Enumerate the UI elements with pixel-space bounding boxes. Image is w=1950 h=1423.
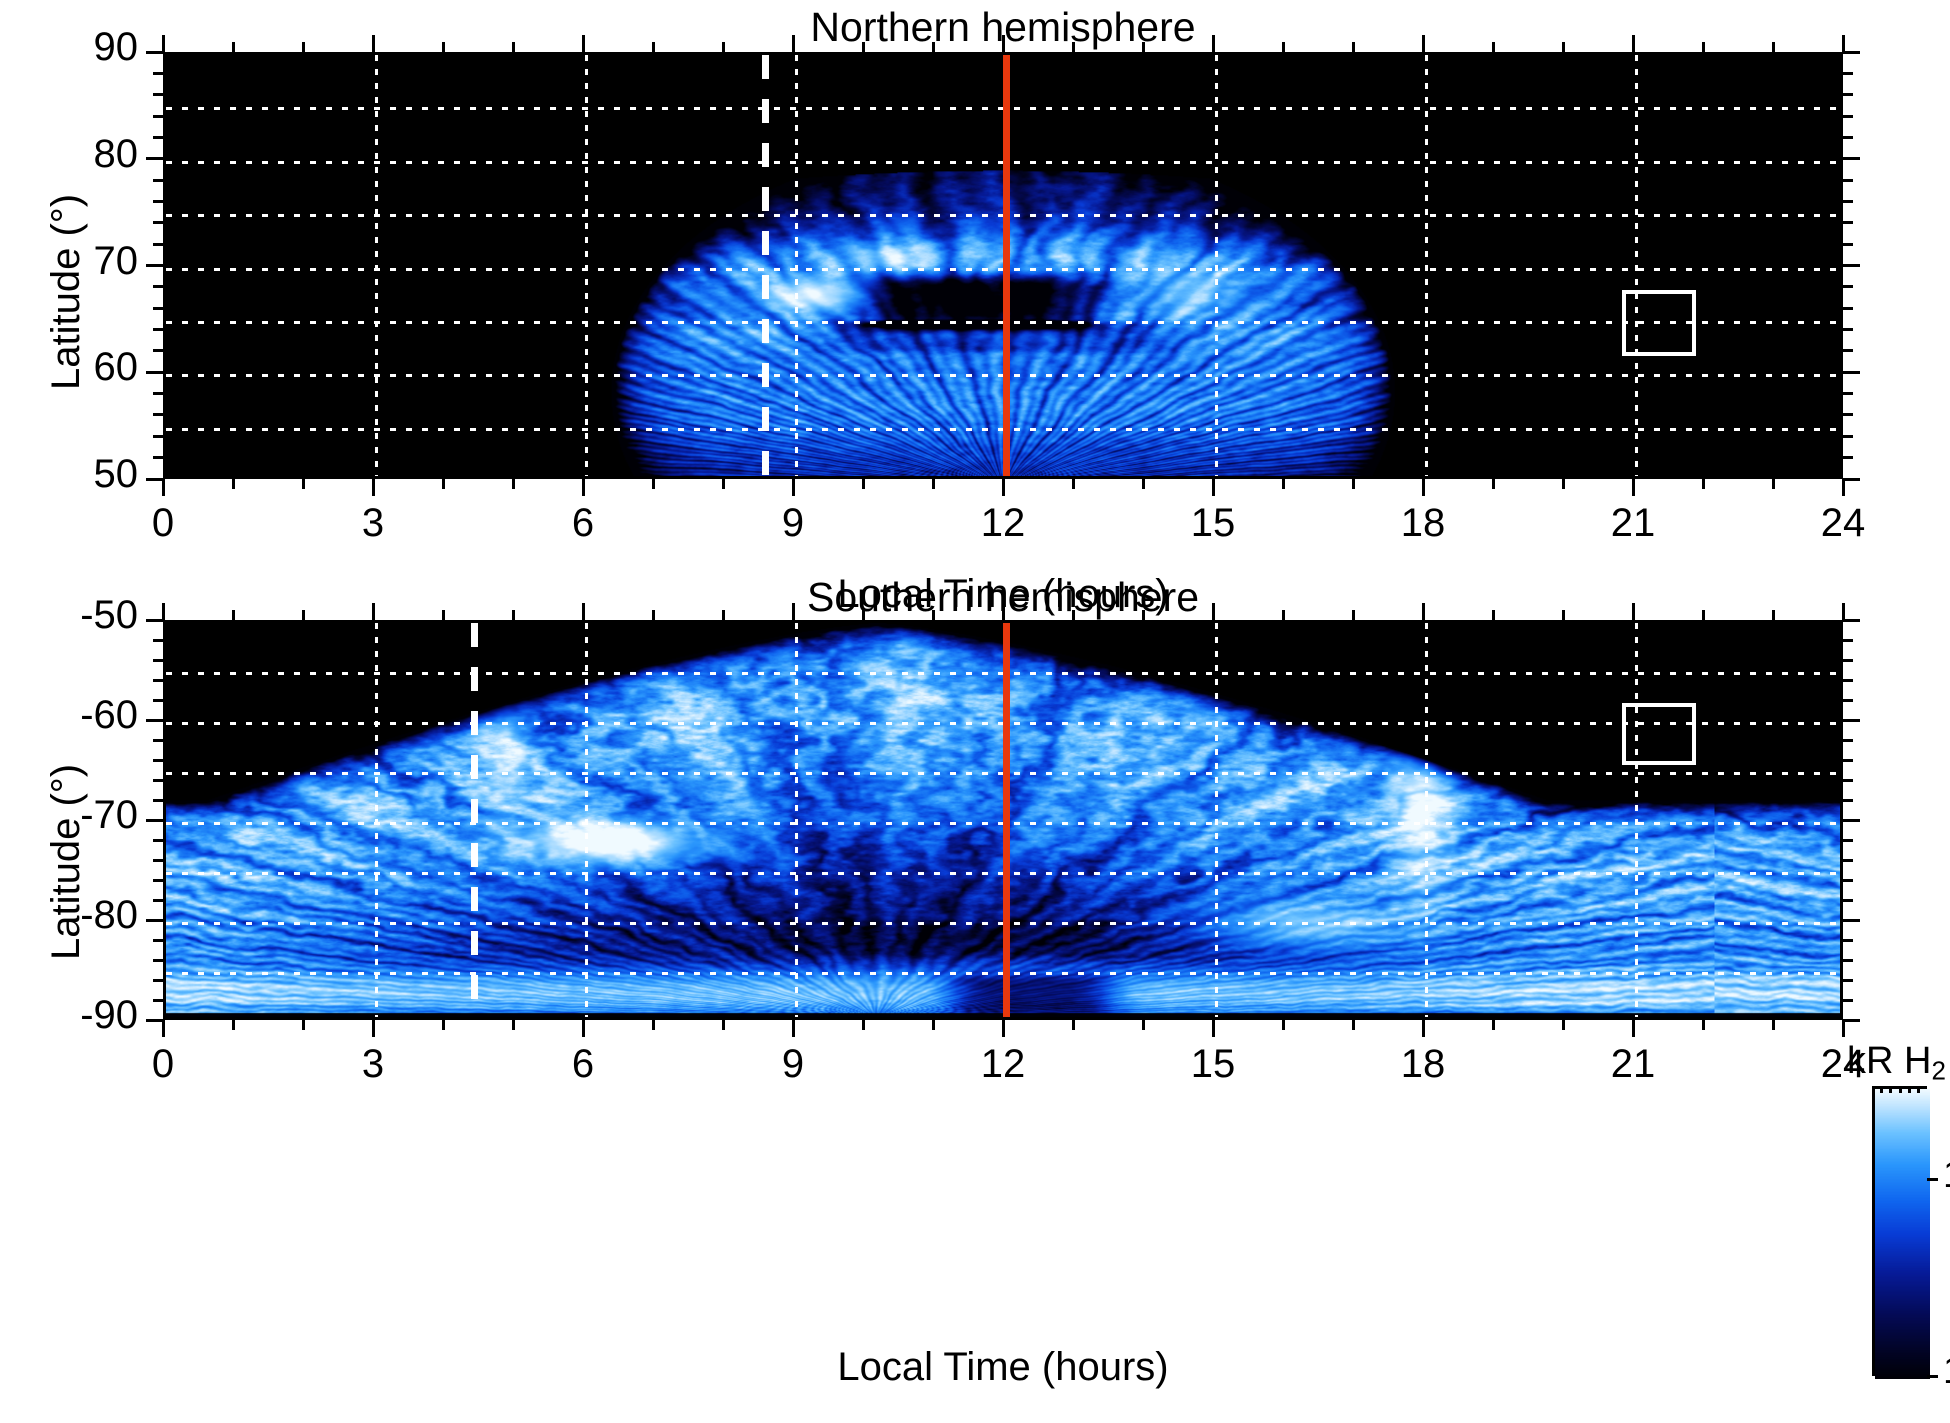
x-tick bbox=[232, 1020, 235, 1030]
y-tick bbox=[153, 659, 163, 662]
y-tick-right bbox=[1843, 478, 1860, 481]
y-tick bbox=[146, 719, 163, 722]
colorbar-title-text: kR H bbox=[1847, 1040, 1931, 1082]
x-tick-label: 3 bbox=[313, 501, 433, 546]
y-tick bbox=[153, 959, 163, 962]
x-tick bbox=[302, 1020, 305, 1030]
x-tick-top bbox=[652, 610, 655, 620]
x-tick bbox=[722, 479, 725, 489]
y-tick-right bbox=[1843, 264, 1860, 267]
x-tick-label: 0 bbox=[103, 501, 223, 546]
x-tick bbox=[1002, 479, 1005, 496]
y-tick bbox=[153, 639, 163, 642]
x-tick bbox=[162, 479, 165, 496]
y-tick bbox=[153, 136, 163, 139]
x-tick-label: 18 bbox=[1363, 501, 1483, 546]
y-tick-right bbox=[1843, 371, 1860, 374]
y-tick bbox=[153, 699, 163, 702]
y-tick-right bbox=[1843, 719, 1860, 722]
x-tick bbox=[1772, 1020, 1775, 1030]
x-tick-top bbox=[1492, 42, 1495, 52]
x-tick-top bbox=[372, 35, 375, 52]
x-tick-top bbox=[862, 610, 865, 620]
northern-hemisphere-plot bbox=[163, 52, 1843, 479]
x-tick-label: 21 bbox=[1573, 1042, 1693, 1087]
x-tick bbox=[1282, 479, 1285, 489]
y-tick-right bbox=[1843, 456, 1853, 459]
x-tick bbox=[162, 1020, 165, 1037]
y-tick-right bbox=[1843, 136, 1853, 139]
x-tick-label: 6 bbox=[523, 1042, 643, 1087]
colorbar-title-subscript: 2 bbox=[1931, 1056, 1945, 1086]
x-tick bbox=[1352, 1020, 1355, 1030]
x-tick-label: 6 bbox=[523, 501, 643, 546]
x-tick bbox=[1002, 1020, 1005, 1037]
y-tick bbox=[153, 739, 163, 742]
x-tick bbox=[652, 479, 655, 489]
x-tick bbox=[1422, 1020, 1425, 1037]
x-tick-top bbox=[162, 603, 165, 620]
y-tick-label: 50 bbox=[0, 452, 138, 497]
x-tick-top bbox=[232, 42, 235, 52]
x-tick bbox=[1702, 1020, 1705, 1030]
y-tick-right bbox=[1843, 243, 1853, 246]
x-tick-top bbox=[302, 42, 305, 52]
x-tick bbox=[1842, 479, 1845, 496]
y-tick-label: -60 bbox=[0, 693, 138, 738]
y-tick-right bbox=[1843, 679, 1853, 682]
y-tick bbox=[153, 456, 163, 459]
y-tick-right bbox=[1843, 93, 1853, 96]
y-tick-right bbox=[1843, 413, 1853, 416]
x-tick bbox=[232, 479, 235, 489]
y-tick bbox=[146, 157, 163, 160]
y-tick-right bbox=[1843, 157, 1860, 160]
y-tick-right bbox=[1843, 779, 1853, 782]
x-tick-top bbox=[1352, 42, 1355, 52]
x-tick-top bbox=[582, 35, 585, 52]
x-tick-top bbox=[1562, 42, 1565, 52]
y-tick-right bbox=[1843, 285, 1853, 288]
x-tick bbox=[442, 479, 445, 489]
x-tick-top bbox=[1842, 603, 1845, 620]
y-tick-right bbox=[1843, 115, 1853, 118]
x-tick-top bbox=[1632, 35, 1635, 52]
x-tick-label: 15 bbox=[1153, 1042, 1273, 1087]
y-tick-right bbox=[1843, 221, 1853, 224]
colorbar bbox=[1872, 1086, 1927, 1376]
y-tick bbox=[153, 979, 163, 982]
y-tick-label: 80 bbox=[0, 132, 138, 177]
x-tick bbox=[372, 479, 375, 496]
x-tick-top bbox=[1002, 35, 1005, 52]
y-tick bbox=[153, 392, 163, 395]
y-tick-label: 90 bbox=[0, 25, 138, 70]
x-tick-top bbox=[1212, 35, 1215, 52]
y-tick bbox=[153, 679, 163, 682]
x-tick-label: 15 bbox=[1153, 501, 1273, 546]
y-tick-right bbox=[1843, 392, 1853, 395]
y-tick-right bbox=[1843, 759, 1853, 762]
y-tick-right bbox=[1843, 349, 1853, 352]
x-tick-top bbox=[1772, 42, 1775, 52]
x-tick bbox=[1422, 479, 1425, 496]
x-tick-label: 18 bbox=[1363, 1042, 1483, 1087]
x-tick-top bbox=[162, 35, 165, 52]
x-tick-label: 0 bbox=[103, 1042, 223, 1087]
x-tick bbox=[932, 479, 935, 489]
y-tick-right bbox=[1843, 879, 1853, 882]
y-tick-right bbox=[1843, 51, 1860, 54]
y-tick-right bbox=[1843, 72, 1853, 75]
y-tick bbox=[146, 619, 163, 622]
x-tick bbox=[1072, 479, 1075, 489]
y-tick-right bbox=[1843, 619, 1860, 622]
y-tick-right bbox=[1843, 307, 1853, 310]
x-tick-label: 9 bbox=[733, 501, 853, 546]
x-tick bbox=[302, 479, 305, 489]
y-tick bbox=[153, 879, 163, 882]
northern-aurora-image bbox=[166, 55, 1840, 476]
y-tick-right bbox=[1843, 435, 1853, 438]
x-tick bbox=[1772, 479, 1775, 489]
southern-y-axis-label: Latitude (°) bbox=[44, 764, 89, 960]
x-tick bbox=[372, 1020, 375, 1037]
x-tick bbox=[792, 479, 795, 496]
figure-root: Northern hemisphere 03691215182124506070… bbox=[0, 0, 1950, 1423]
x-tick bbox=[1842, 1020, 1845, 1037]
northern-y-axis-label: Latitude (°) bbox=[44, 194, 89, 390]
x-tick-top bbox=[1282, 610, 1285, 620]
y-tick bbox=[153, 779, 163, 782]
x-tick-top bbox=[372, 603, 375, 620]
x-tick bbox=[1352, 479, 1355, 489]
y-tick bbox=[146, 371, 163, 374]
x-tick-top bbox=[1142, 610, 1145, 620]
colorbar-minor-tick bbox=[1889, 1086, 1892, 1093]
y-tick bbox=[153, 179, 163, 182]
x-tick-top bbox=[652, 42, 655, 52]
x-tick bbox=[1562, 1020, 1565, 1030]
y-tick bbox=[153, 435, 163, 438]
x-tick-top bbox=[302, 610, 305, 620]
southern-hemisphere-plot bbox=[163, 620, 1843, 1020]
y-tick bbox=[153, 939, 163, 942]
x-tick bbox=[1492, 479, 1495, 489]
x-tick-top bbox=[442, 42, 445, 52]
y-tick-right bbox=[1843, 659, 1853, 662]
x-tick-top bbox=[512, 42, 515, 52]
x-tick-label: 12 bbox=[943, 501, 1063, 546]
x-tick bbox=[1562, 479, 1565, 489]
x-tick bbox=[1212, 1020, 1215, 1037]
x-tick-label: 3 bbox=[313, 1042, 433, 1087]
x-tick-label: 12 bbox=[943, 1042, 1063, 1087]
x-tick bbox=[1072, 1020, 1075, 1030]
x-tick-top bbox=[1492, 610, 1495, 620]
colorbar-tick-label: 10 bbox=[1943, 1154, 1950, 1197]
x-tick-top bbox=[862, 42, 865, 52]
y-tick-right bbox=[1843, 939, 1853, 942]
x-tick bbox=[582, 479, 585, 496]
y-tick bbox=[146, 264, 163, 267]
x-tick-top bbox=[582, 603, 585, 620]
x-tick bbox=[652, 1020, 655, 1030]
x-tick bbox=[792, 1020, 795, 1037]
x-tick-top bbox=[1212, 603, 1215, 620]
x-tick bbox=[512, 1020, 515, 1030]
x-tick bbox=[1282, 1020, 1285, 1030]
colorbar-gradient bbox=[1875, 1089, 1930, 1379]
y-tick-label: -90 bbox=[0, 993, 138, 1038]
x-tick-label: 24 bbox=[1783, 501, 1903, 546]
colorbar-minor-tick bbox=[1917, 1086, 1920, 1093]
colorbar-minor-tick bbox=[1908, 1086, 1911, 1093]
x-tick bbox=[722, 1020, 725, 1030]
x-tick-label: 9 bbox=[733, 1042, 853, 1087]
x-tick-top bbox=[932, 610, 935, 620]
y-tick bbox=[153, 200, 163, 203]
y-tick-label: -50 bbox=[0, 593, 138, 638]
y-tick-right bbox=[1843, 819, 1860, 822]
y-tick bbox=[153, 307, 163, 310]
y-tick bbox=[146, 919, 163, 922]
x-tick-top bbox=[1632, 603, 1635, 620]
y-tick bbox=[153, 899, 163, 902]
x-tick-top bbox=[792, 35, 795, 52]
x-tick bbox=[862, 479, 865, 489]
y-tick-right bbox=[1843, 739, 1853, 742]
y-tick bbox=[153, 349, 163, 352]
x-tick bbox=[512, 479, 515, 489]
y-tick bbox=[146, 819, 163, 822]
x-tick-top bbox=[512, 610, 515, 620]
y-tick bbox=[153, 839, 163, 842]
x-tick bbox=[1142, 479, 1145, 489]
y-tick-right bbox=[1843, 859, 1853, 862]
y-tick-right bbox=[1843, 1019, 1860, 1022]
colorbar-tick bbox=[1927, 1178, 1938, 1181]
y-tick-right bbox=[1843, 839, 1853, 842]
x-tick-top bbox=[1422, 603, 1425, 620]
x-tick-top bbox=[1072, 610, 1075, 620]
southern-x-axis-label: Local Time (hours) bbox=[0, 1345, 1950, 1390]
x-tick-top bbox=[722, 42, 725, 52]
y-tick bbox=[153, 328, 163, 331]
colorbar-tick-label: 1 bbox=[1943, 1350, 1950, 1393]
y-tick-right bbox=[1843, 328, 1853, 331]
y-tick-right bbox=[1843, 919, 1860, 922]
y-tick bbox=[153, 413, 163, 416]
x-tick bbox=[1492, 1020, 1495, 1030]
y-tick bbox=[153, 799, 163, 802]
y-tick bbox=[153, 72, 163, 75]
x-tick-top bbox=[932, 42, 935, 52]
x-tick bbox=[1212, 479, 1215, 496]
x-tick bbox=[1142, 1020, 1145, 1030]
colorbar-minor-tick bbox=[1899, 1086, 1902, 1093]
y-tick bbox=[153, 243, 163, 246]
x-tick-top bbox=[1002, 603, 1005, 620]
y-tick bbox=[146, 478, 163, 481]
y-tick bbox=[153, 999, 163, 1002]
y-tick bbox=[146, 1019, 163, 1022]
y-tick-right bbox=[1843, 200, 1853, 203]
y-tick-right bbox=[1843, 799, 1853, 802]
x-tick bbox=[932, 1020, 935, 1030]
x-tick bbox=[862, 1020, 865, 1030]
y-tick-right bbox=[1843, 179, 1853, 182]
x-tick-top bbox=[1352, 610, 1355, 620]
southern-aurora-image bbox=[166, 623, 1840, 1017]
y-tick bbox=[153, 93, 163, 96]
x-tick bbox=[582, 1020, 585, 1037]
x-tick-top bbox=[1702, 42, 1705, 52]
y-tick bbox=[153, 759, 163, 762]
y-tick-right bbox=[1843, 959, 1853, 962]
x-tick-top bbox=[232, 610, 235, 620]
colorbar-tick bbox=[1927, 1375, 1938, 1378]
y-tick-right bbox=[1843, 699, 1853, 702]
x-tick-top bbox=[722, 610, 725, 620]
x-tick-top bbox=[1702, 610, 1705, 620]
x-tick bbox=[1632, 479, 1635, 496]
x-tick-top bbox=[1072, 42, 1075, 52]
x-tick-top bbox=[1842, 35, 1845, 52]
x-tick bbox=[1632, 1020, 1635, 1037]
x-tick-top bbox=[1562, 610, 1565, 620]
x-tick bbox=[442, 1020, 445, 1030]
y-tick-right bbox=[1843, 979, 1853, 982]
colorbar-title: kR H2 bbox=[1847, 1040, 1946, 1087]
y-tick-right bbox=[1843, 899, 1853, 902]
x-tick bbox=[1702, 479, 1705, 489]
y-tick bbox=[153, 115, 163, 118]
x-tick-label: 21 bbox=[1573, 501, 1693, 546]
x-tick-top bbox=[792, 603, 795, 620]
colorbar-minor-tick bbox=[1880, 1086, 1883, 1093]
y-tick-right bbox=[1843, 999, 1853, 1002]
x-tick-top bbox=[1772, 610, 1775, 620]
x-tick-top bbox=[442, 610, 445, 620]
y-tick bbox=[153, 285, 163, 288]
x-tick-top bbox=[1282, 42, 1285, 52]
y-tick bbox=[153, 221, 163, 224]
y-tick bbox=[146, 51, 163, 54]
y-tick bbox=[153, 859, 163, 862]
x-tick-top bbox=[1142, 42, 1145, 52]
y-tick-right bbox=[1843, 639, 1853, 642]
x-tick-top bbox=[1422, 35, 1425, 52]
